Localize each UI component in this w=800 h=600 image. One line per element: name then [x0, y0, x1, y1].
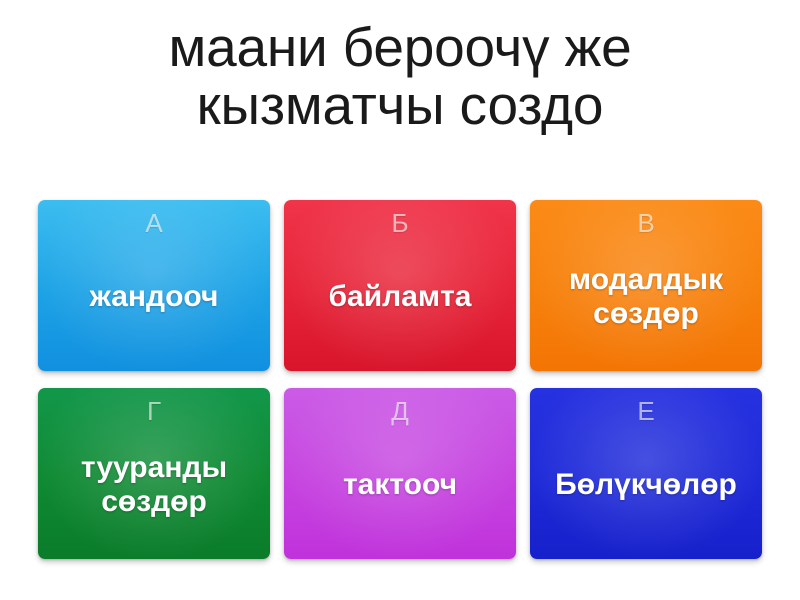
- answer-letter-b: Б: [391, 210, 408, 236]
- question-text: маани бероочү же кызматчы создо: [20, 18, 780, 135]
- answer-label-b: байламта: [319, 236, 482, 371]
- answer-label-a: жандооч: [80, 236, 229, 371]
- answer-letter-v: В: [637, 210, 654, 236]
- answer-letter-e: Е: [637, 398, 654, 424]
- answer-tile-g[interactable]: Г тууранды сөздөр: [38, 388, 270, 559]
- answer-tile-b[interactable]: Б байламта: [284, 200, 516, 371]
- answer-tile-d[interactable]: Д тактооч: [284, 388, 516, 559]
- answer-label-e: Бөлүкчөлөр: [545, 424, 747, 559]
- answer-label-v: модалдык сөздөр: [559, 236, 733, 371]
- answer-tile-v[interactable]: В модалдык сөздөр: [530, 200, 762, 371]
- answer-letter-a: А: [145, 210, 162, 236]
- question-line-1: маани бероочү же: [20, 18, 780, 76]
- quiz-page: маани бероочү же кызматчы создо А жандоо…: [0, 0, 800, 600]
- answer-options-grid: А жандооч Б байламта В модалдык сөздөр Г…: [38, 200, 762, 559]
- answer-tile-e[interactable]: Е Бөлүкчөлөр: [530, 388, 762, 559]
- question-line-2: кызматчы создо: [20, 76, 780, 134]
- answer-letter-g: Г: [147, 398, 161, 424]
- answer-label-g: тууранды сөздөр: [71, 424, 237, 559]
- answer-label-d: тактооч: [333, 424, 467, 559]
- answer-tile-a[interactable]: А жандооч: [38, 200, 270, 371]
- answer-letter-d: Д: [391, 398, 409, 424]
